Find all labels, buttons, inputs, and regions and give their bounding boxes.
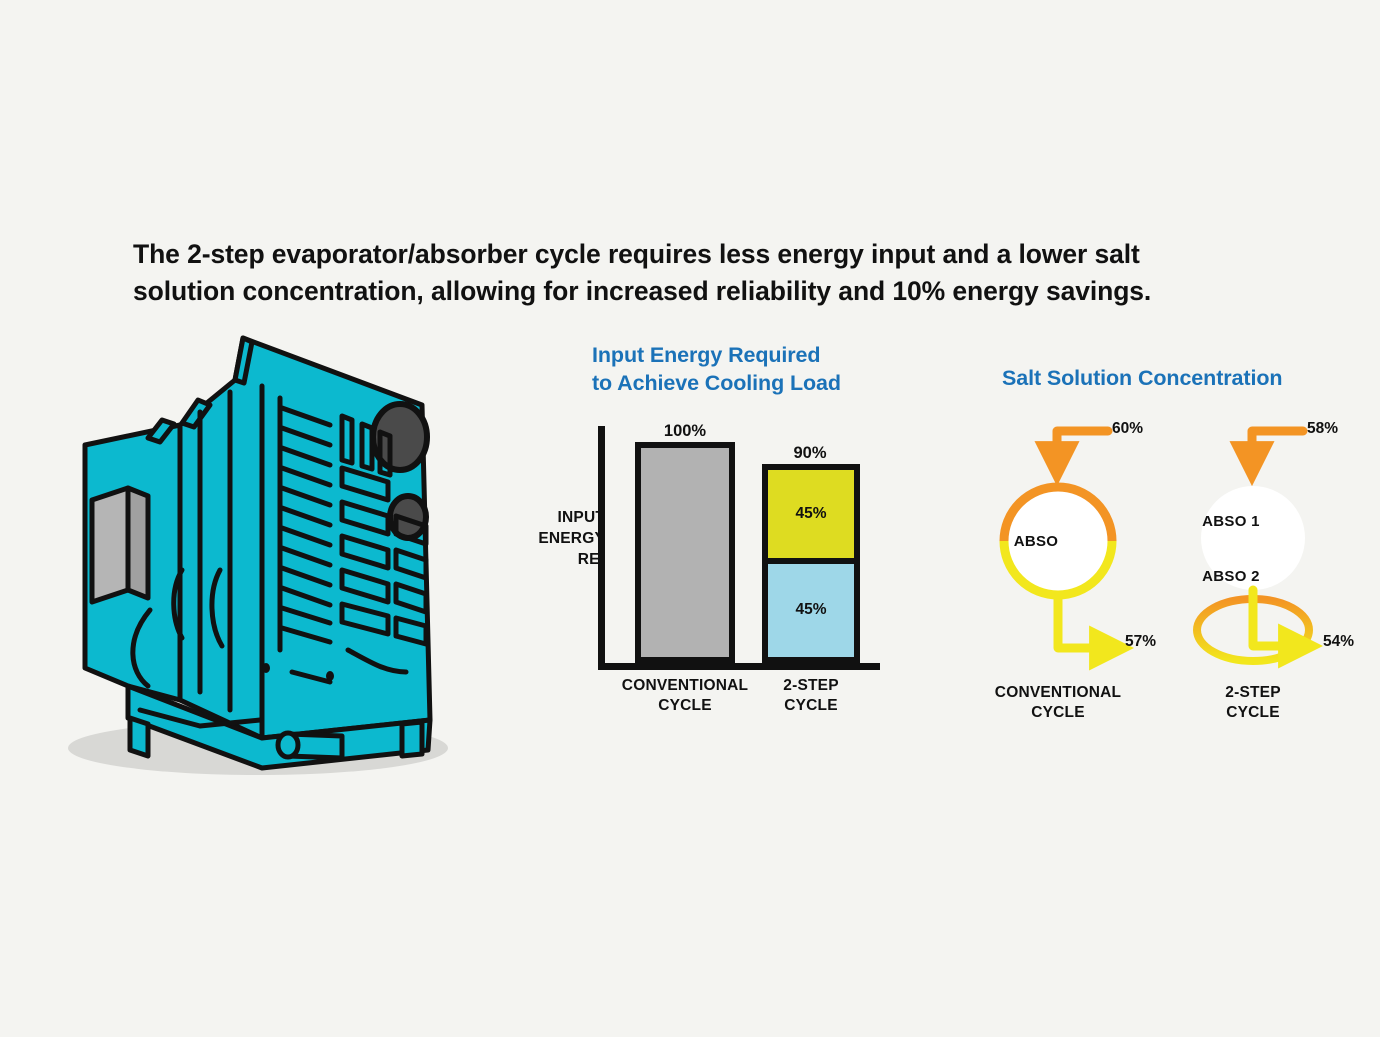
absorber-label-conventional: ABSO <box>936 533 1136 550</box>
inlet-arrow-conventional <box>1057 431 1108 460</box>
bar-chart-title: Input Energy Required to Achieve Cooling… <box>592 342 892 397</box>
bar-chart-title-line1: Input Energy Required <box>592 342 892 370</box>
caption-conventional-line1: CONVENTIONAL <box>958 683 1158 703</box>
bar-segment-yellow: 45% <box>768 470 854 564</box>
chiller-foot-right <box>402 722 422 756</box>
chiller-lower-cylinder <box>278 733 342 758</box>
bar-category-conventional-line2: CYCLE <box>602 696 768 716</box>
bar-total-label-conventional: 100% <box>635 422 735 441</box>
bar-two-step-cycle[interactable]: 45% 45% <box>762 464 860 663</box>
bar-category-conventional-line1: CONVENTIONAL <box>602 676 768 696</box>
salt-panel-title: Salt Solution Concentration <box>1002 365 1362 393</box>
bar-category-conventional: CONVENTIONAL CYCLE <box>602 676 768 716</box>
inlet-pct-conventional: 60% <box>1112 420 1143 438</box>
absorption-chiller-illustration <box>30 320 480 790</box>
bar-total-label-two-step: 90% <box>760 444 860 463</box>
absorber2-label: ABSO 2 <box>1131 568 1331 585</box>
caption-two-step-line2: CYCLE <box>1153 703 1353 723</box>
bar-conventional-cycle[interactable] <box>635 442 735 663</box>
salt-solution-panel: Salt Solution Concentration <box>960 338 1360 728</box>
input-energy-chart-panel: Input Energy Required to Achieve Cooling… <box>520 338 890 728</box>
chiller-foot-left <box>130 718 148 756</box>
caption-two-step-line1: 2-STEP <box>1153 683 1353 703</box>
caption-conventional: CONVENTIONAL CYCLE <box>958 683 1158 723</box>
caption-two-step: 2-STEP CYCLE <box>1153 683 1353 723</box>
chiller-control-panel <box>92 488 148 602</box>
x-axis-line <box>598 663 880 670</box>
absorber1-label: ABSO 1 <box>1131 513 1331 530</box>
caption-conventional-line2: CYCLE <box>958 703 1158 723</box>
outlet-pct-conventional: 57% <box>1125 633 1156 651</box>
inlet-pct-two-step: 58% <box>1307 420 1338 438</box>
chiller-svg <box>30 320 480 790</box>
infographic-canvas: The 2-step evaporator/absorber cycle req… <box>0 0 1380 1037</box>
bar-category-two-step: 2-STEP CYCLE <box>762 676 860 716</box>
page-headline: The 2-step evaporator/absorber cycle req… <box>133 236 1193 310</box>
bar-category-two-step-line1: 2-STEP <box>762 676 860 696</box>
outlet-pct-two-step: 54% <box>1323 633 1354 651</box>
inlet-arrow-two-step <box>1252 431 1303 460</box>
salt-group-two-step: ABSO 1 ABSO 2 58% 54% 2-STEP CYCLE <box>1175 408 1375 728</box>
y-axis-line <box>598 426 605 668</box>
bar-segment-cyan: 45% <box>768 564 854 658</box>
outlet-arrow-conventional <box>1058 595 1108 648</box>
bar-chart-title-line2: to Achieve Cooling Load <box>592 370 892 398</box>
bar-plot-area: 100% 90% 45% 45% CONVENTIONAL CYCLE 2-ST… <box>590 418 880 670</box>
bar-category-two-step-line2: CYCLE <box>762 696 860 716</box>
